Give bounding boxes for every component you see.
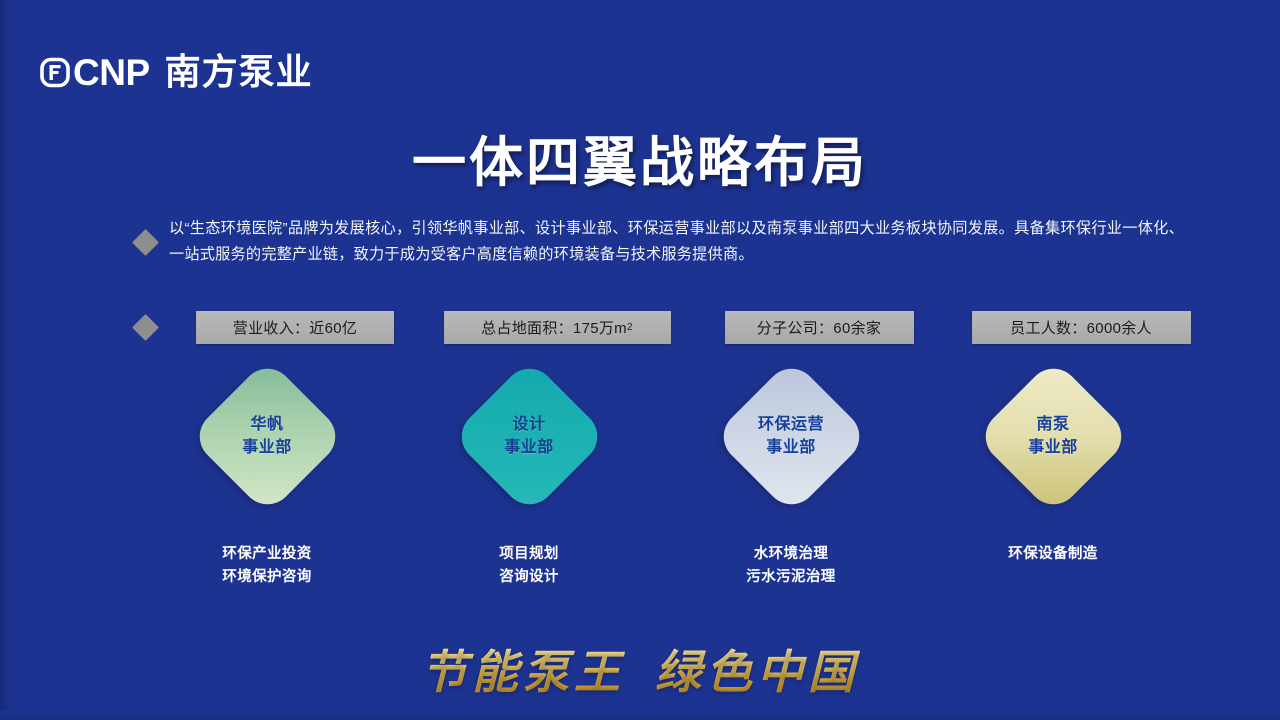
pillar-huanbaoyunying[interactable]: 环保运营 事业部 水环境治理 污水污泥治理: [660, 362, 922, 589]
logo-text-cn: 南方泵业: [165, 54, 313, 90]
status-badge[interactable]: 员工人数：6000余人: [972, 311, 1191, 344]
diamond-bullet-icon: [132, 229, 159, 256]
gem-label-line2: 事业部: [504, 436, 554, 459]
diamond-bullet-icon: [132, 314, 159, 341]
caption-line1: 水环境治理: [746, 543, 835, 566]
stats-block: 营业收入：近60亿 总占地面积：175万m2 分子公司：60余家 员工人数：60…: [136, 311, 1184, 344]
slide-canvas: CNP 南方泵业 一体四翼战略布局 以“生态环境医院”品牌为发展核心，引领华帆事…: [0, 0, 1280, 720]
gem-shape-wrapper: 设计 事业部: [451, 362, 607, 510]
gem-shape-wrapper: 南泵 事业部: [975, 362, 1131, 510]
page-title: 一体四翼战略布局: [0, 132, 1280, 194]
gem-label-line1: 华帆: [242, 413, 292, 436]
intro-paragraph: 以“生态环境医院”品牌为发展核心，引领华帆事业部、设计事业部、环保运营事业部以及…: [169, 216, 1184, 268]
stat-badge-list: 营业收入：近60亿 总占地面积：175万m2 分子公司：60余家 员工人数：60…: [164, 311, 1212, 344]
pillar-caption: 项目规划 咨询设计: [499, 543, 559, 589]
stat-label: 分子公司：60余家: [757, 317, 881, 338]
pillar-caption: 环保产业投资 环境保护咨询: [222, 543, 311, 589]
stat-label: 员工人数：6000余人: [1010, 317, 1152, 338]
caption-line2: 咨询设计: [499, 566, 559, 589]
gem-shape-wrapper: 华帆 事业部: [189, 362, 345, 510]
status-badge[interactable]: 营业收入：近60亿: [196, 311, 394, 344]
pillar-caption: 水环境治理 污水污泥治理: [746, 543, 835, 589]
company-logo: CNP 南方泵业: [40, 49, 313, 95]
gem-label: 环保运营 事业部: [758, 413, 824, 459]
bottom-edge-band: [0, 710, 1280, 720]
intro-block: 以“生态环境医院”品牌为发展核心，引领华帆事业部、设计事业部、环保运营事业部以及…: [136, 216, 1184, 268]
stat-superscript: 2: [627, 322, 633, 333]
gem-label-line2: 事业部: [242, 436, 292, 459]
bottom-slogan: 节能泵王 绿色中国: [0, 636, 1280, 702]
stat-cell: 营业收入：近60亿: [164, 311, 426, 344]
gem-label-line1: 南泵: [1028, 413, 1078, 436]
gem-label-line1: 设计: [504, 413, 554, 436]
slogan-part1: 节能泵王: [421, 645, 625, 699]
status-badge[interactable]: 分子公司：60余家: [725, 311, 914, 344]
gem-label-line2: 事业部: [758, 436, 824, 459]
gem-label: 华帆 事业部: [242, 413, 292, 459]
stat-cell: 总占地面积：175万m2: [426, 311, 688, 344]
gem-label-line2: 事业部: [1028, 436, 1078, 459]
caption-line1: 环保设备制造: [1008, 543, 1097, 566]
left-edge-band: [0, 0, 11, 720]
caption-line1: 项目规划: [499, 543, 559, 566]
cnp-monogram-icon: [40, 57, 70, 88]
gem-label: 设计 事业部: [504, 413, 554, 459]
pillar-huafan[interactable]: 华帆 事业部 环保产业投资 环境保护咨询: [136, 362, 398, 589]
stat-cell: 分子公司：60余家: [688, 311, 950, 344]
caption-line2: 环境保护咨询: [222, 566, 311, 589]
pillar-sheji[interactable]: 设计 事业部 项目规划 咨询设计: [398, 362, 660, 589]
pillar-nanbeng[interactable]: 南泵 事业部 环保设备制造: [922, 362, 1184, 589]
gem-label: 南泵 事业部: [1028, 413, 1078, 459]
slogan-spacer: [625, 645, 655, 699]
caption-line2: 污水污泥治理: [746, 566, 835, 589]
stat-label: 营业收入：近60亿: [233, 317, 357, 338]
caption-line1: 环保产业投资: [222, 543, 311, 566]
stat-cell: 员工人数：6000余人: [950, 311, 1212, 344]
gem-shape-wrapper: 环保运营 事业部: [713, 362, 869, 510]
status-badge[interactable]: 总占地面积：175万m2: [444, 311, 671, 344]
slogan-part2: 绿色中国: [655, 645, 859, 699]
pillar-caption: 环保设备制造: [1008, 543, 1097, 566]
logo-text-en: CNP: [73, 54, 150, 91]
pillar-list: 华帆 事业部 环保产业投资 环境保护咨询 设计 事业部 项目规划 咨询设计: [136, 362, 1184, 589]
gem-label-line1: 环保运营: [758, 413, 824, 436]
stat-label: 总占地面积：175万m: [481, 317, 627, 338]
